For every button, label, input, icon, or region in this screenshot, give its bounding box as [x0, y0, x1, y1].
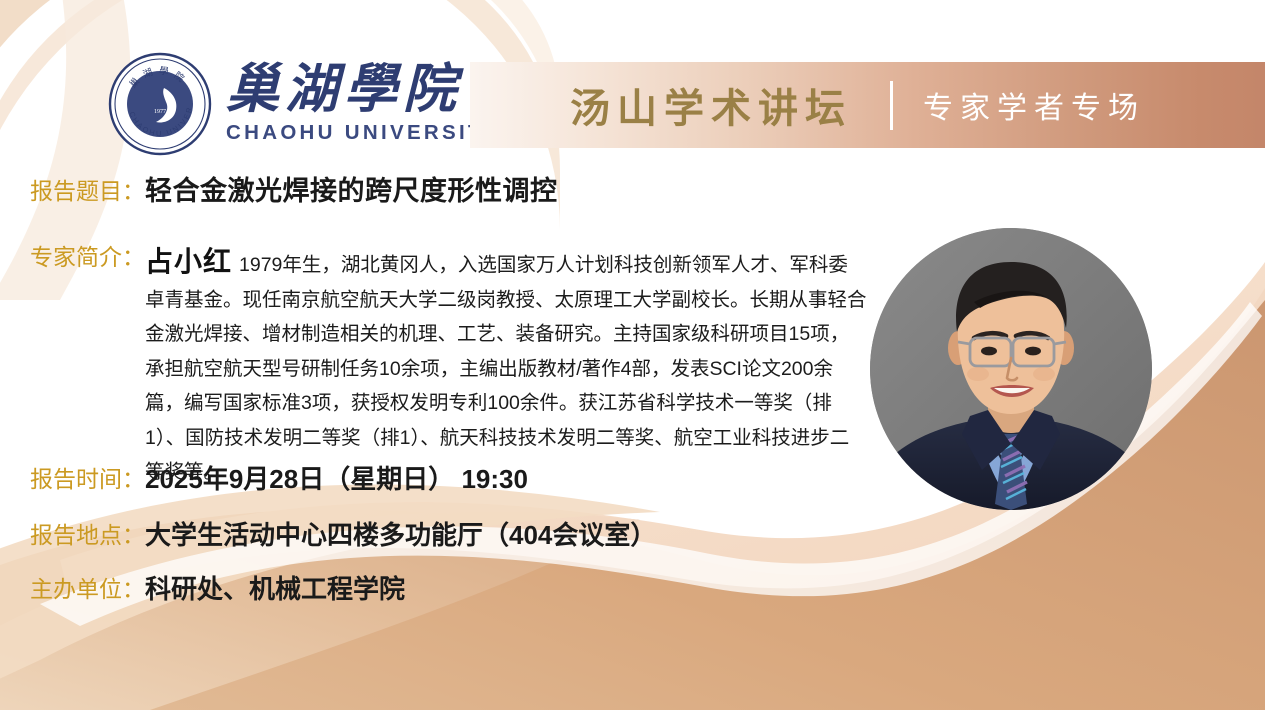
- label-report-place: 报告地点：: [30, 518, 145, 552]
- label-organizer: 主办单位：: [30, 572, 145, 606]
- value-report-time: 2025年9月28日（星期日） 19:30: [145, 462, 528, 496]
- value-report-place: 大学生活动中心四楼多功能厅（404会议室）: [145, 518, 656, 552]
- row-speaker-bio: 专家简介： 占小红1979年生，湖北黄冈人，入选国家万人计划科技创新领军人才、军…: [30, 240, 875, 490]
- label-speaker-bio: 专家简介：: [30, 240, 145, 274]
- value-report-title: 轻合金激光焊接的跨尺度形性调控: [145, 174, 558, 208]
- value-organizer: 科研处、机械工程学院: [145, 572, 405, 606]
- label-report-time: 报告时间：: [30, 462, 145, 496]
- label-report-title: 报告题目：: [30, 174, 145, 208]
- speaker-bio-text: 1979年生，湖北黄冈人，入选国家万人计划科技创新领军人才、军科委卓青基金。现任…: [145, 254, 867, 483]
- speaker-bio-body: 占小红1979年生，湖北黄冈人，入选国家万人计划科技创新领军人才、军科委卓青基金…: [145, 240, 867, 490]
- row-report-title: 报告题目： 轻合金激光焊接的跨尺度形性调控: [30, 174, 558, 208]
- speaker-portrait: [870, 228, 1152, 510]
- row-report-place: 报告地点： 大学生活动中心四楼多功能厅（404会议室）: [30, 518, 656, 552]
- row-organizer: 主办单位： 科研处、机械工程学院: [30, 572, 405, 606]
- speaker-name: 占小红: [145, 246, 232, 277]
- row-report-time: 报告时间： 2025年9月28日（星期日） 19:30: [30, 462, 528, 496]
